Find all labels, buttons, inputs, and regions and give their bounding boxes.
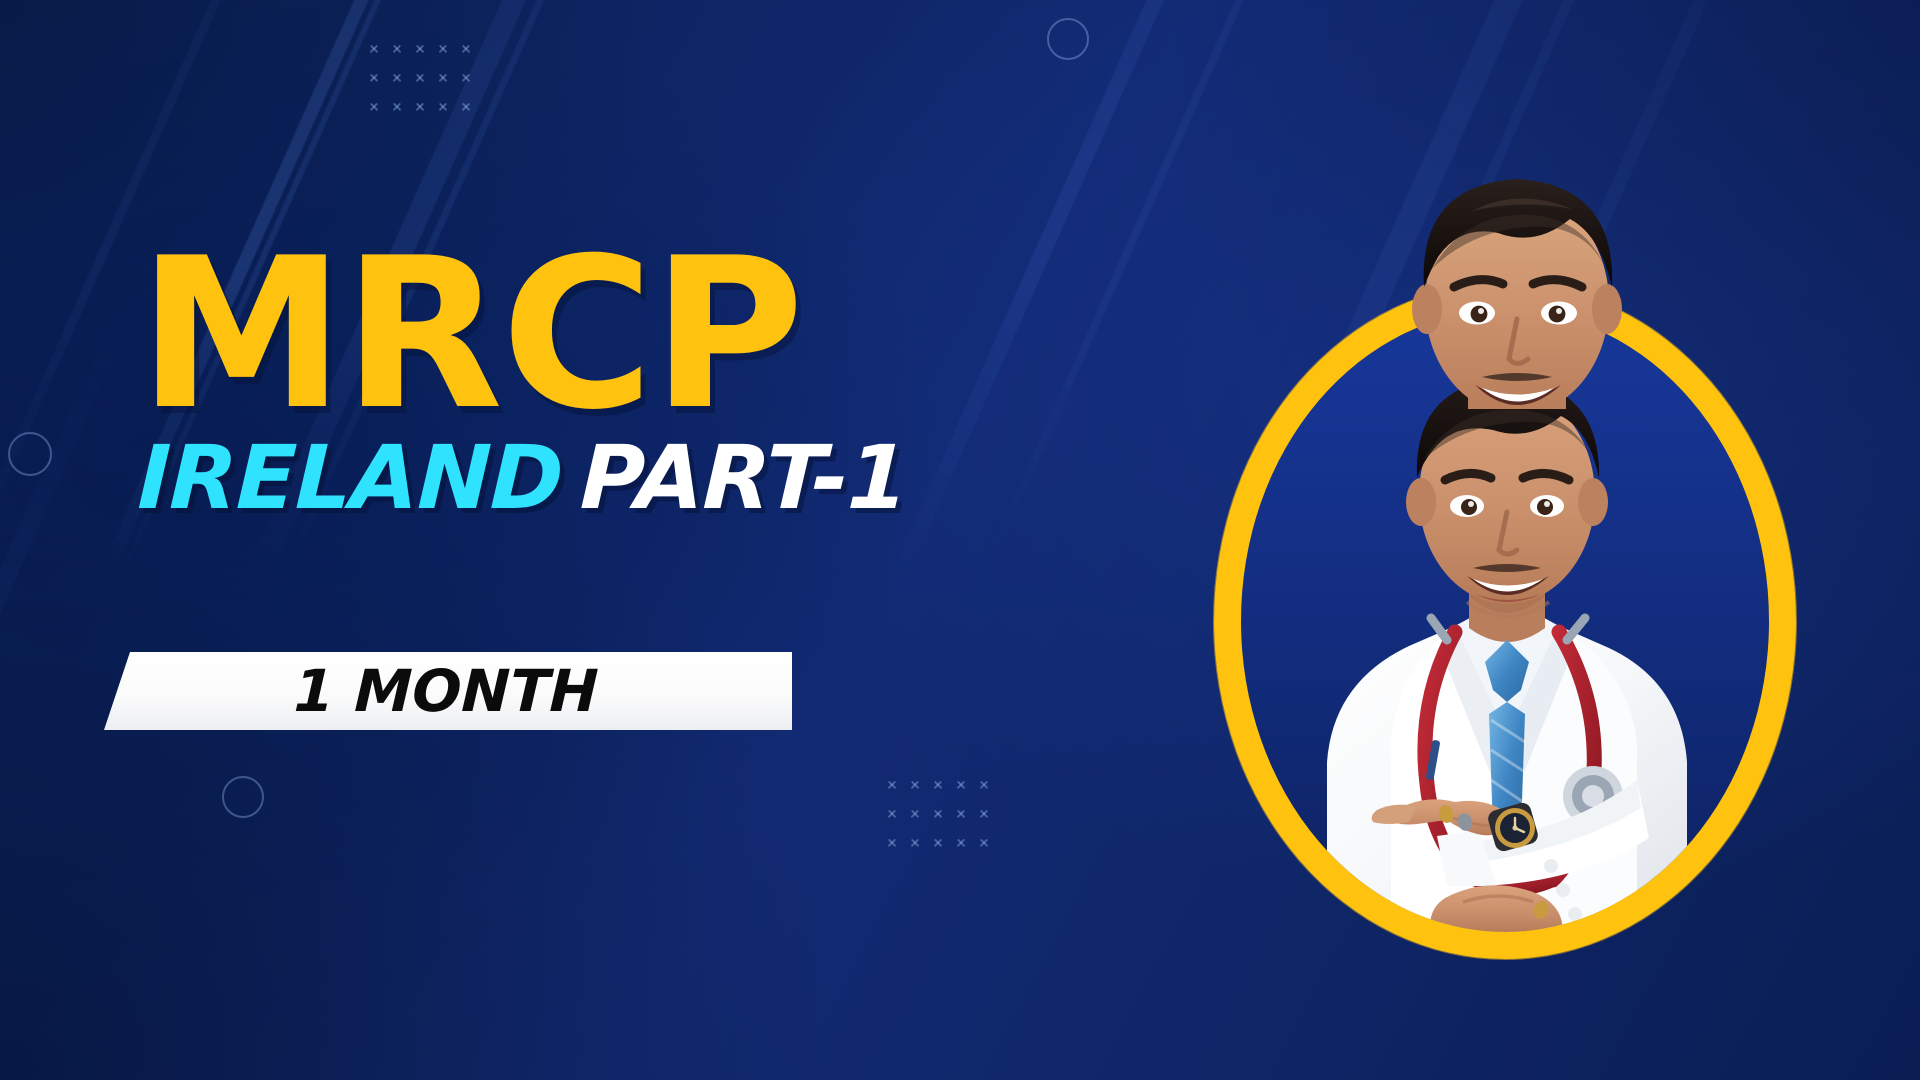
x-icon <box>926 828 949 857</box>
headline-block: MRCP IRELANDPART-1 <box>138 252 898 522</box>
x-pattern-grid-top <box>362 34 477 121</box>
x-pattern-grid-bottom <box>880 770 995 857</box>
x-icon <box>949 770 972 799</box>
x-icon <box>903 828 926 857</box>
subtitle-country: IRELAND <box>136 426 564 529</box>
x-icon <box>454 63 477 92</box>
subtitle-row: IRELANDPART-1 <box>136 434 899 522</box>
doctor-portrait <box>1214 283 1796 959</box>
x-icon <box>880 770 903 799</box>
circle-outline-icon <box>1047 18 1089 60</box>
x-icon <box>454 34 477 63</box>
x-icon <box>454 92 477 121</box>
x-icon <box>926 799 949 828</box>
subtitle-part: PART-1 <box>579 426 910 529</box>
portrait-yellow-ring <box>1214 283 1796 959</box>
circle-outline-icon <box>1443 233 1483 273</box>
circle-outline-icon <box>222 776 264 818</box>
x-icon <box>385 92 408 121</box>
x-icon <box>880 828 903 857</box>
x-icon <box>903 799 926 828</box>
circle-outline-icon <box>8 432 52 476</box>
x-icon <box>362 92 385 121</box>
x-icon <box>949 799 972 828</box>
x-icon <box>385 63 408 92</box>
x-icon <box>408 92 431 121</box>
x-icon <box>408 63 431 92</box>
x-icon <box>362 63 385 92</box>
x-icon <box>362 34 385 63</box>
x-icon <box>949 828 972 857</box>
x-icon <box>431 34 454 63</box>
duration-label: 1 MONTH <box>103 652 794 730</box>
x-icon <box>408 34 431 63</box>
x-icon <box>880 799 903 828</box>
x-icon <box>431 92 454 121</box>
promo-banner: MRCP IRELANDPART-1 1 MONTH <box>0 0 1920 1080</box>
x-icon <box>385 34 408 63</box>
x-icon <box>903 770 926 799</box>
x-icon <box>972 828 995 857</box>
page-title: MRCP <box>138 252 898 418</box>
duration-badge: 1 MONTH <box>104 652 792 730</box>
x-icon <box>972 770 995 799</box>
x-icon <box>972 799 995 828</box>
x-icon <box>431 63 454 92</box>
x-icon <box>926 770 949 799</box>
